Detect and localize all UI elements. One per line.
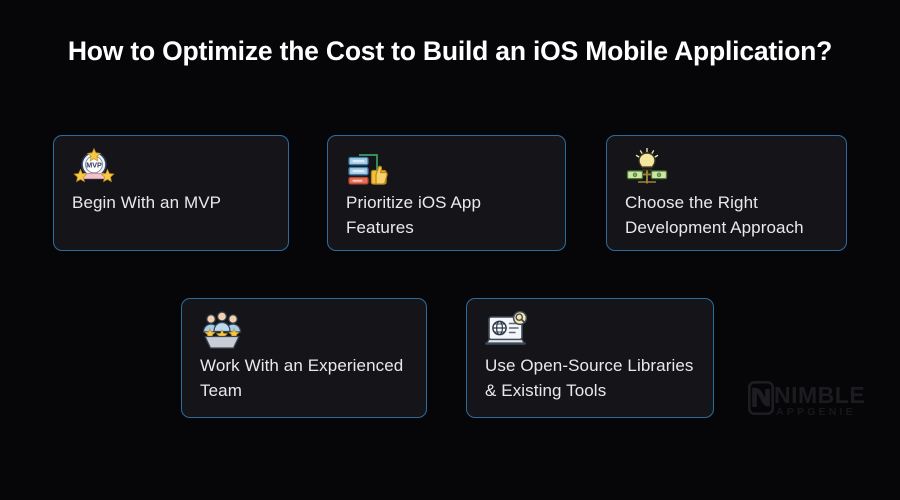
card-label: Use Open-Source Libraries & Existing Too… bbox=[485, 353, 699, 403]
watermark-logo: NIMBLE APPGENIE bbox=[748, 379, 868, 423]
card-label: Begin With an MVP bbox=[72, 190, 274, 215]
mvp-badge-icon: MVP bbox=[72, 148, 116, 188]
nimble-logo-mark-icon bbox=[748, 381, 774, 415]
card-label: Choose the Right Development Approach bbox=[625, 190, 832, 240]
card-choose-the-right-development-approach[interactable]: Choose the Right Development Approach bbox=[606, 135, 847, 251]
card-use-open-source-libraries-existing-tools[interactable]: Use Open-Source Libraries & Existing Too… bbox=[466, 298, 714, 418]
page-title: How to Optimize the Cost to Build an iOS… bbox=[0, 36, 900, 67]
lightbulb-balance-scale-icon bbox=[625, 148, 669, 188]
card-begin-with-an-mvp[interactable]: MVP Begin With an MVP bbox=[53, 135, 289, 251]
slide-canvas: How to Optimize the Cost to Build an iOS… bbox=[0, 0, 900, 500]
card-work-with-an-experienced-team[interactable]: Work With an Experienced Team bbox=[181, 298, 427, 418]
card-label: Work With an Experienced Team bbox=[200, 353, 412, 403]
card-label: Prioritize iOS App Features bbox=[346, 190, 551, 240]
watermark-tagline: APPGENIE bbox=[776, 407, 856, 418]
laptop-globe-search-icon bbox=[485, 311, 529, 351]
priority-list-thumbs-up-icon bbox=[346, 148, 390, 188]
watermark-name: NIMBLE bbox=[774, 383, 865, 407]
card-prioritize-ios-app-features[interactable]: Prioritize iOS App Features bbox=[327, 135, 566, 251]
team-stars-icon bbox=[200, 311, 244, 351]
svg-text:MVP: MVP bbox=[86, 161, 102, 170]
